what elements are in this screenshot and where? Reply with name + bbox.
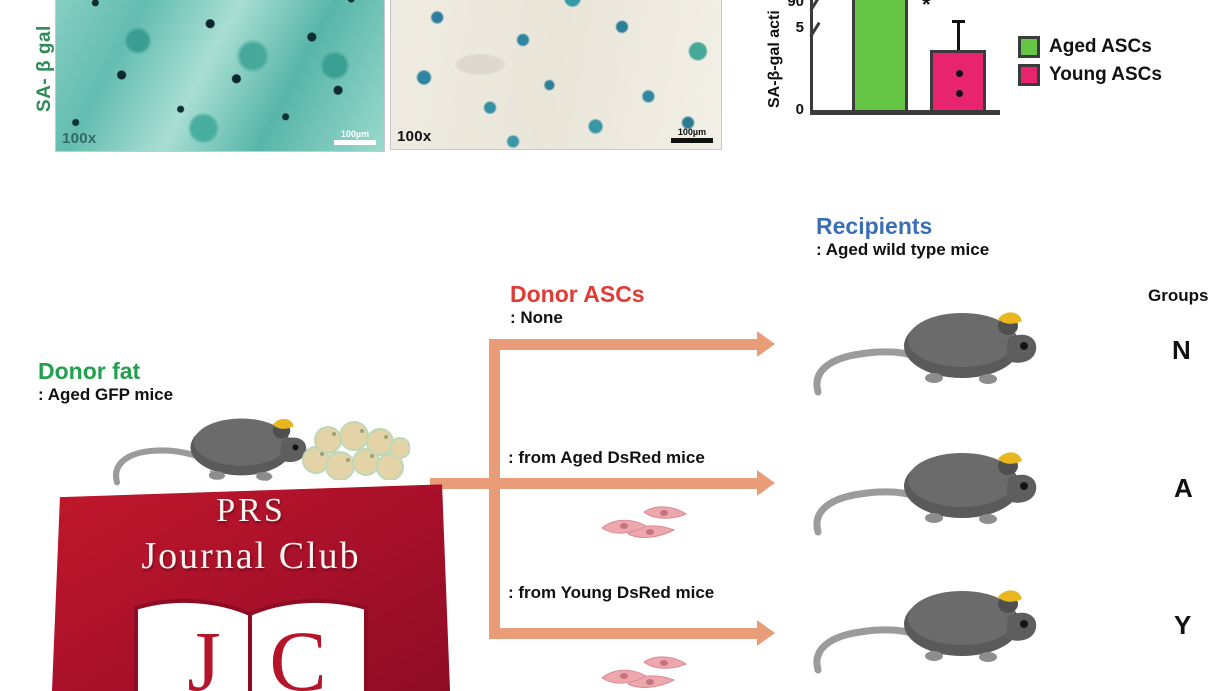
groups-column-header: Groups [1148, 286, 1208, 306]
chart-plot-area: 90 5 0 * [810, 0, 1000, 118]
young-asc-micrograph: 100x 100µm [390, 0, 722, 150]
scale-bar-line-aged [334, 140, 376, 145]
magnification-label-aged: 100x [62, 130, 97, 147]
recipient-mouse-n [810, 292, 1050, 402]
recipients-subtitle: : Aged wild type mice [816, 239, 989, 260]
arrow-branch-a-head [757, 470, 775, 496]
asc-cells-aged [600, 500, 700, 544]
group-letter-n: N [1172, 335, 1191, 366]
arrow-branch-y-shaft [489, 628, 757, 639]
prs-title-line2: Journal Club [52, 534, 450, 578]
bar-aged-ascs-lower [852, 0, 908, 113]
y-tick-90: 90 [787, 0, 804, 9]
adipose-tissue-illustration [300, 420, 410, 480]
group-letter-a: A [1174, 473, 1193, 504]
prs-journal-club-watermark: PRS Journal Club J C [52, 478, 450, 691]
chart-y-axis-label: SA-β-gal acti [766, 10, 784, 108]
legend-label-aged: Aged ASCs [1049, 36, 1152, 58]
arrow-branch-y-head [757, 620, 775, 646]
arrow-branch-n-shaft [489, 339, 757, 350]
prs-title-line1: PRS [52, 492, 450, 530]
branch-label-aged-dsred: : from Aged DsRed mice [508, 448, 705, 468]
y-tick-0: 0 [796, 102, 804, 117]
magnification-label-young: 100x [397, 128, 432, 145]
arrow-branch-a-shaft [489, 478, 757, 489]
error-bar-cap-young [952, 20, 965, 23]
legend-item-young: Young ASCs [1018, 64, 1162, 86]
arrow-trunk-vertical [489, 339, 500, 639]
bar-young-ascs [930, 50, 986, 113]
legend-swatch-aged [1018, 36, 1040, 58]
donor-ascs-subtitle: : None [510, 307, 645, 328]
error-bar-young [957, 20, 960, 52]
open-book-icon: J C [126, 590, 376, 691]
svg-text:C: C [269, 613, 326, 691]
donor-fat-header: Donor fat : Aged GFP mice [38, 358, 173, 406]
scale-bar-aged: 100µm [334, 130, 376, 145]
donor-ascs-title: Donor ASCs [510, 281, 645, 307]
recipient-mouse-y [810, 570, 1050, 680]
recipients-header: Recipients : Aged wild type mice [816, 213, 989, 261]
prs-badge-text: PRS Journal Club [52, 492, 450, 578]
scientific-figure: SA- β gal 100x 100µm 100x 100µm SA-β-gal… [0, 0, 1230, 691]
scale-bar-young: 100µm [671, 128, 713, 143]
recipients-title: Recipients [816, 213, 989, 239]
legend-item-aged: Aged ASCs [1018, 36, 1162, 58]
significance-star: * [922, 0, 931, 16]
chart-y-axis [810, 0, 813, 113]
sa-beta-gal-axis-label: SA- β gal [34, 25, 56, 112]
arrow-branch-n-head [757, 331, 775, 357]
data-point-young-1 [956, 70, 963, 77]
chart-legend: Aged ASCs Young ASCs [1018, 36, 1162, 92]
aged-asc-micrograph: 100x 100µm [55, 0, 385, 152]
y-tick-5: 5 [796, 20, 804, 35]
scale-bar-line-young [671, 138, 713, 143]
legend-label-young: Young ASCs [1049, 64, 1162, 86]
svg-text:J: J [187, 613, 220, 691]
branch-label-young-dsred: : from Young DsRed mice [508, 583, 714, 603]
legend-swatch-young [1018, 64, 1040, 86]
recipient-mouse-a [810, 432, 1050, 542]
donor-fat-title: Donor fat [38, 358, 173, 384]
asc-cells-young [600, 650, 700, 691]
donor-ascs-header: Donor ASCs : None [510, 281, 645, 329]
sa-beta-gal-bar-chart: SA-β-gal acti 90 5 0 * [760, 0, 1060, 163]
group-letter-y: Y [1174, 610, 1191, 641]
data-point-young-2 [956, 90, 963, 97]
